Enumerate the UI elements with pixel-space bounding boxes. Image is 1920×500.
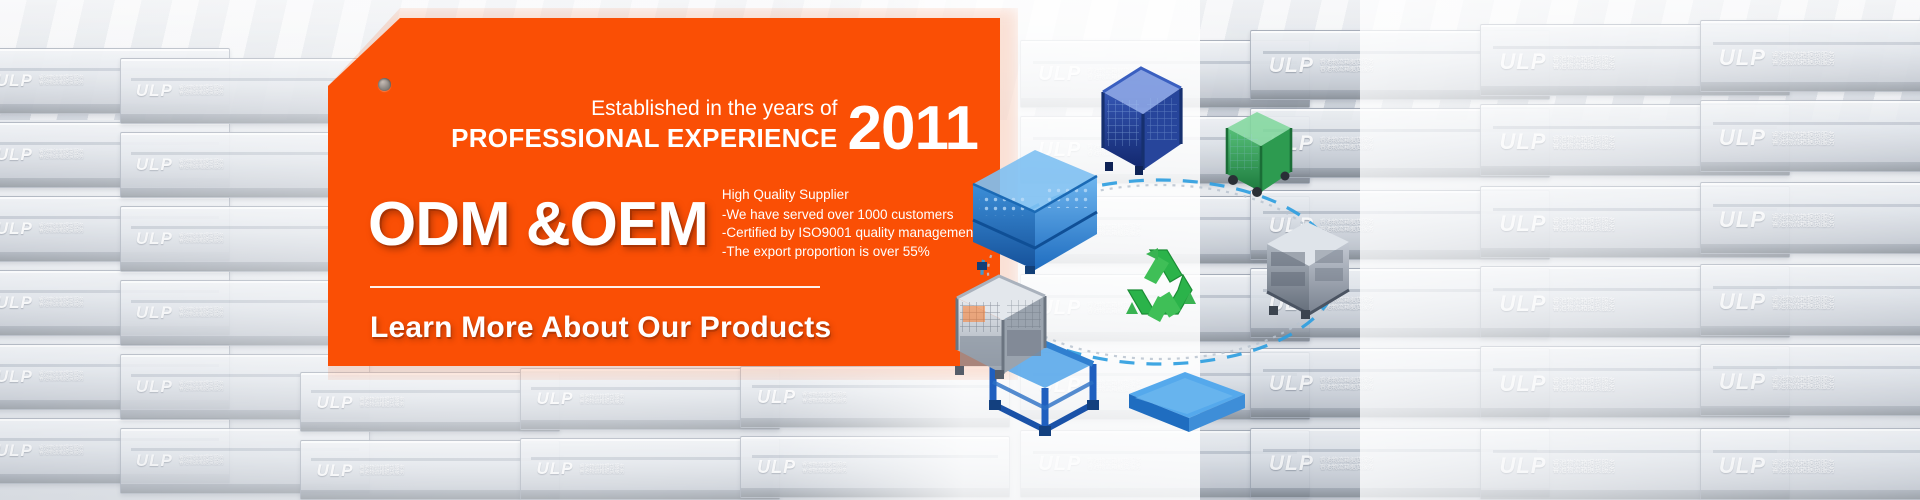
showcase-graphics xyxy=(955,40,1385,460)
tag-hole-icon xyxy=(378,78,391,91)
professional-experience-label: PROFESSIONAL EXPERIENCE xyxy=(451,122,837,154)
learn-more-link[interactable]: Learn More About Our Products xyxy=(370,308,831,348)
divider xyxy=(370,286,820,288)
headline-row: ODM &OEM High Quality Supplier -We have … xyxy=(368,186,988,263)
recycle-symbol-icon xyxy=(1126,248,1196,322)
green-roll-container-trolley-illustration xyxy=(1227,112,1291,197)
orange-tag-panel: Established in the years of PROFESSIONAL… xyxy=(328,18,1000,366)
promo-banner: ULP睿池物流箱据货服务睿池物流箱据货服务ULP睿池物流箱据货服务睿池物流箱据货… xyxy=(0,0,1920,500)
blue-plastic-pallet-illustration xyxy=(1129,372,1245,432)
navy-stacking-mesh-cage-illustration xyxy=(1103,68,1181,175)
headline-odm-oem: ODM &OEM xyxy=(368,190,708,260)
product-showcase xyxy=(955,40,1385,460)
grey-steel-pallet-box-illustration xyxy=(1267,222,1349,319)
background-right-fade xyxy=(1360,0,1920,500)
established-row: Established in the years of PROFESSIONAL… xyxy=(368,94,978,156)
established-label: Established in the years of xyxy=(451,96,837,122)
